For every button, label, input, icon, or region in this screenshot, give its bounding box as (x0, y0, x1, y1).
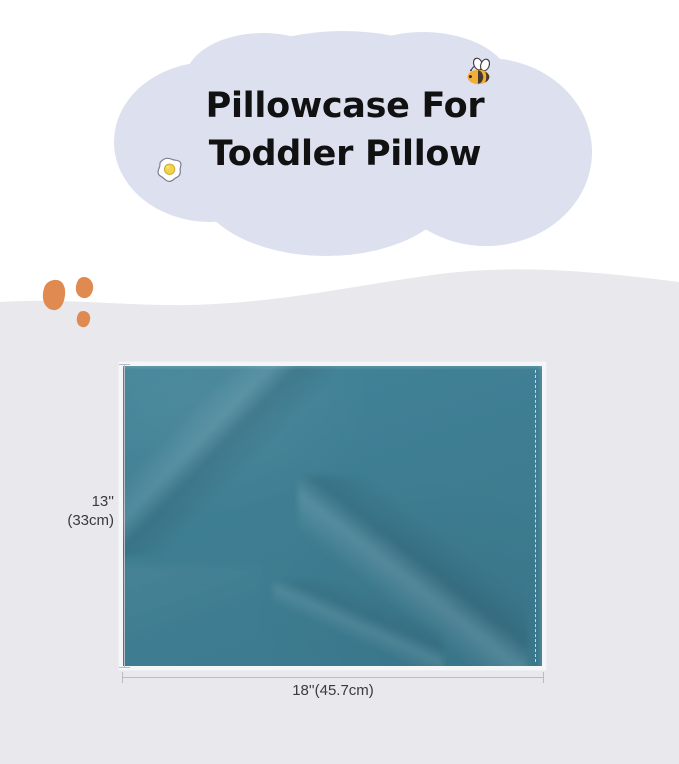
pillowcase-image (123, 366, 542, 666)
cloud-shape (88, 22, 598, 260)
pillowcase-right-edge (537, 366, 542, 666)
height-cap-bottom (119, 667, 130, 668)
fried-egg-icon (155, 155, 185, 185)
height-label-inches: 13'' (34, 492, 114, 511)
orange-blob-group (40, 275, 120, 331)
pillowcase-fabric (123, 366, 542, 666)
width-label: 18''(45.7cm) (122, 682, 544, 699)
orange-blob-large (43, 280, 65, 310)
stitching-line (535, 370, 536, 662)
orange-blob-small (77, 311, 90, 327)
height-bar (124, 364, 125, 668)
height-dimension-line (119, 364, 130, 668)
width-bar (122, 677, 544, 678)
product-infographic: Pillowcase For Toddler Pillow (0, 0, 679, 764)
cloud-svg (88, 22, 598, 260)
bee-icon (461, 57, 496, 89)
height-label-cm: (33cm) (34, 511, 114, 530)
orange-blob-medium (76, 277, 93, 298)
height-label: 13'' (33cm) (34, 492, 114, 530)
pillowcase-top-edge (123, 366, 542, 370)
